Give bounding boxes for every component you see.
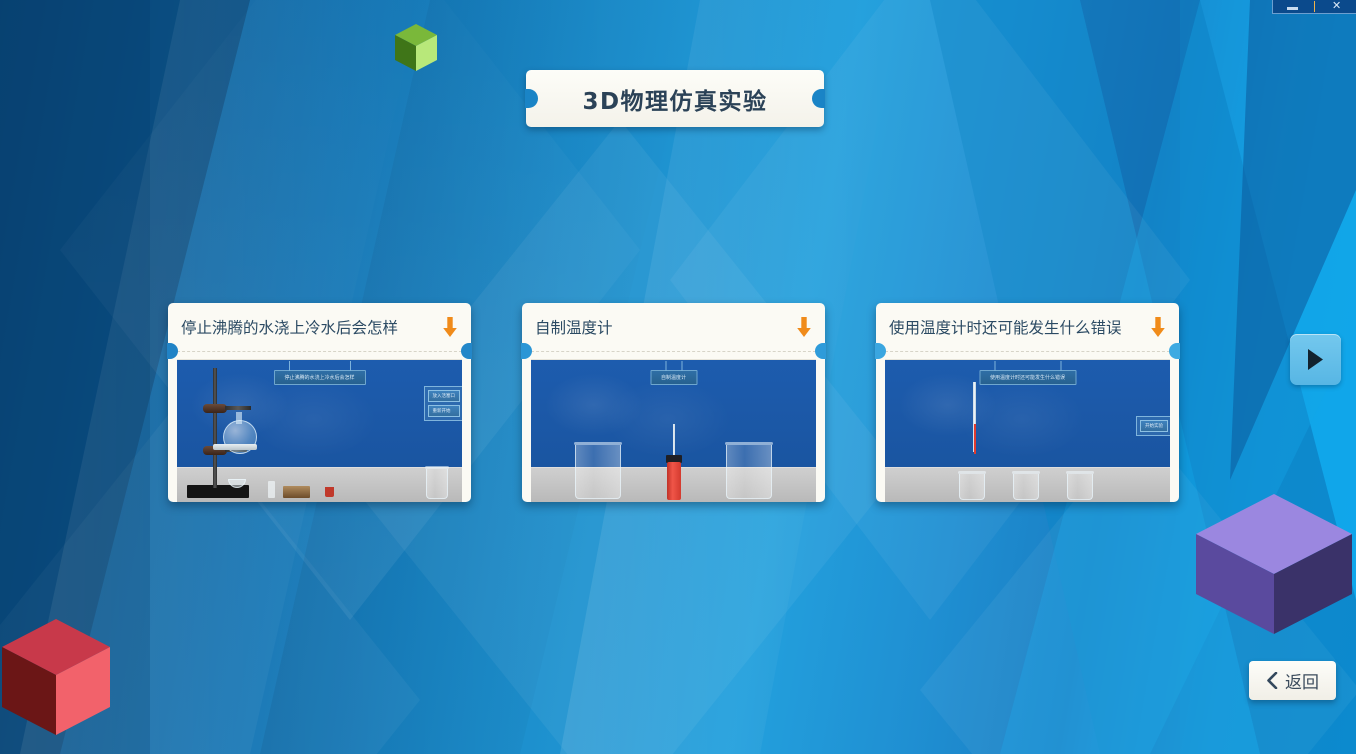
experiment-card[interactable]: 使用温度计时还可能发生什么错误 使用温度计时还可能发生什么错误 开始实验 (876, 303, 1179, 502)
beaker-left (575, 445, 621, 499)
scene-thermometer-errors: 使用温度计时还可能发生什么错误 开始实验 (885, 360, 1170, 502)
window-controls-divider (1314, 1, 1315, 12)
close-icon: ✕ (1332, 1, 1341, 12)
download-arrow-icon[interactable] (795, 316, 813, 338)
banner-notch-right (812, 89, 825, 108)
card-notch-right (815, 343, 826, 359)
scene-boiling-water: 停止沸腾的水浇上冷水后会怎样 放入活塞口 重新开始 (177, 360, 462, 502)
red-cup (325, 487, 334, 497)
next-page-button[interactable] (1290, 334, 1341, 385)
card-divider (885, 351, 1170, 352)
minimize-button[interactable] (1275, 0, 1309, 13)
scene-sign: 使用温度计时还可能发生什么错误 (979, 370, 1076, 385)
thermometer-tube (673, 424, 675, 456)
play-triangle-icon (1306, 348, 1325, 371)
download-arrow-icon[interactable] (441, 316, 459, 338)
page-title-text: 3D物理仿真实验 (582, 82, 767, 116)
card-thumbnail[interactable]: 自制温度计 (531, 359, 816, 502)
back-button-label: 返回 (1285, 668, 1319, 693)
experiment-card[interactable]: 停止沸腾的水浇上冷水后会怎样 停止沸腾的水浇上冷水后会怎样 放入活塞口 重新开始 (168, 303, 471, 502)
card-header: 停止沸腾的水浇上冷水后会怎样 (168, 303, 471, 351)
clamp-arm-upper (225, 406, 251, 410)
beaker-right (726, 445, 772, 499)
card-divider (177, 351, 462, 352)
scene-button[interactable]: 重新开始 (428, 405, 461, 417)
purple-cube (1190, 490, 1356, 638)
beaker-3 (1067, 474, 1093, 500)
back-button[interactable]: 返回 (1249, 661, 1336, 700)
scene-sign: 停止沸腾的水浇上冷水后会怎样 (273, 370, 365, 385)
thermometer-mercury (974, 424, 976, 454)
card-notch-left (875, 343, 886, 359)
card-divider (531, 351, 816, 352)
card-title: 停止沸腾的水浇上冷水后会怎样 (181, 316, 435, 338)
flask-neck (236, 412, 242, 424)
minimize-icon (1287, 7, 1298, 10)
card-notch-left (167, 343, 178, 359)
card-thumbnail[interactable]: 停止沸腾的水浇上冷水后会怎样 放入活塞口 重新开始 (177, 359, 462, 502)
close-button[interactable]: ✕ (1320, 0, 1354, 13)
scene-sign: 自制温度计 (650, 370, 697, 385)
download-arrow-icon[interactable] (1149, 316, 1167, 338)
card-notch-left (521, 343, 532, 359)
scene-button-panel: 放入活塞口 重新开始 (424, 386, 463, 421)
beaker-2 (1013, 474, 1039, 500)
wire-gauze (213, 444, 257, 450)
scene-homemade-thermometer: 自制温度计 (531, 360, 816, 502)
scene-button-panel: 开始实验 (1136, 416, 1170, 436)
chevron-left-icon (1266, 672, 1278, 689)
beaker (426, 469, 448, 499)
card-header: 自制温度计 (522, 303, 825, 351)
small-bottle (268, 481, 275, 498)
clamp-upper (203, 404, 227, 413)
card-title: 自制温度计 (535, 316, 789, 338)
card-notch-right (461, 343, 472, 359)
page-title: 3D物理仿真实验 (526, 70, 824, 127)
beaker-1 (959, 474, 985, 500)
card-header: 使用温度计时还可能发生什么错误 (876, 303, 1179, 351)
green-cube (392, 22, 440, 74)
scene-button[interactable]: 开始实验 (1140, 420, 1168, 432)
card-notch-right (1169, 343, 1180, 359)
card-title: 使用温度计时还可能发生什么错误 (889, 316, 1143, 338)
stand-rod (213, 368, 217, 488)
red-bottle (667, 462, 681, 500)
scene-button[interactable]: 放入活塞口 (428, 390, 461, 402)
window-controls: ✕ (1272, 0, 1356, 14)
card-thumbnail[interactable]: 使用温度计时还可能发生什么错误 开始实验 (885, 359, 1170, 502)
page-title-banner: 3D物理仿真实验 (526, 70, 824, 127)
wood-block (283, 486, 310, 498)
red-cube (0, 616, 114, 740)
experiment-card[interactable]: 自制温度计 自制温度计 (522, 303, 825, 502)
